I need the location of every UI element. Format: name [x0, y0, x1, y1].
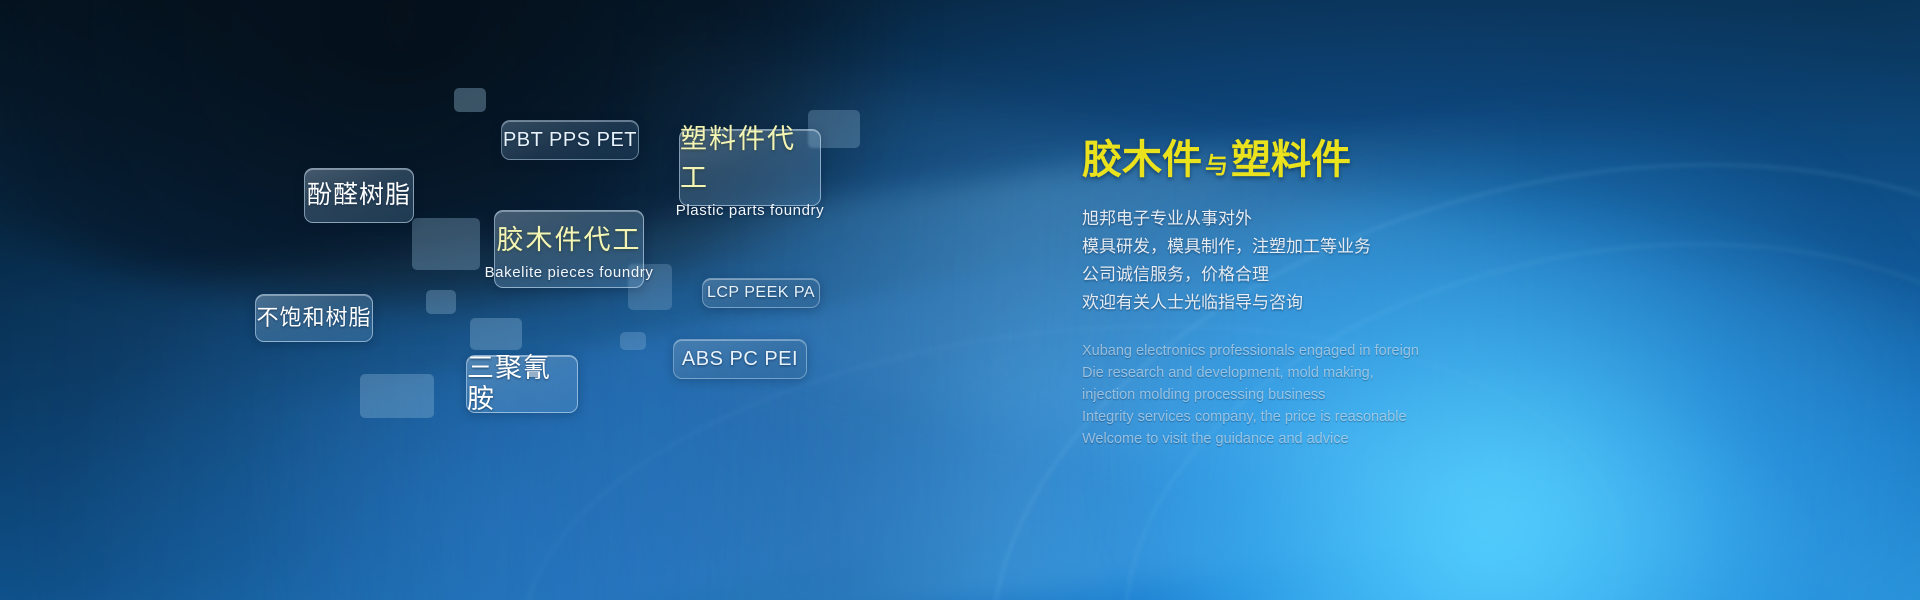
tag-label: 酚醛树脂	[307, 181, 411, 210]
description-en-line: Die research and development, mold makin…	[1082, 362, 1502, 384]
tag-title-en: Bakelite pieces foundry	[485, 264, 654, 281]
tag-resin-unsaturated[interactable]: 不饱和树脂	[255, 294, 373, 342]
description-cn-line: 公司诚信服务，价格合理	[1082, 264, 1502, 286]
tag-label: 不饱和树脂	[256, 305, 371, 330]
description-cn-line: 欢迎有关人士光临指导与咨询	[1082, 292, 1502, 314]
decorative-square	[470, 318, 522, 350]
tag-label: 三聚氰胺	[467, 353, 577, 415]
tag-title-cn: 胶木件代工	[497, 218, 642, 257]
tag-materials-abs[interactable]: ABS PC PEI	[673, 339, 807, 379]
tag-resin-phenolic[interactable]: 酚醛树脂	[304, 168, 414, 223]
tag-resin-melamine[interactable]: 三聚氰胺	[466, 355, 578, 413]
light-sweep-lower	[234, 254, 1165, 600]
tag-materials-pbt[interactable]: PBT PPS PET	[501, 120, 639, 160]
title-conjunction: 与	[1202, 152, 1231, 178]
description-en-line: Welcome to visit the guidance and advice	[1082, 428, 1502, 450]
promo-banner: PBT PPS PET 酚醛树脂 塑料件代工 Plastic parts fou…	[0, 0, 1920, 600]
tag-title-en: Plastic parts foundry	[676, 202, 825, 219]
description-cn-line: 模具研发，模具制作，注塑加工等业务	[1082, 236, 1502, 258]
tag-label: PBT PPS PET	[503, 129, 637, 152]
tag-service-bakelite[interactable]: 胶木件代工 Bakelite pieces foundry	[494, 210, 644, 288]
description-en-line: Xubang electronics professionals engaged…	[1082, 340, 1502, 362]
tag-label: ABS PC PEI	[682, 348, 798, 371]
decorative-square	[454, 88, 486, 112]
tag-materials-lcp[interactable]: LCP PEEK PA	[702, 278, 820, 308]
tag-title-cn: 塑料件代工	[680, 117, 820, 195]
decorative-square	[426, 290, 456, 314]
copy-block: 胶木件与塑料件 旭邦电子专业从事对外 模具研发，模具制作，注塑加工等业务 公司诚…	[1082, 140, 1502, 450]
decorative-square	[412, 218, 480, 270]
title-part-1: 胶木件	[1082, 138, 1202, 182]
description-en-list: Xubang electronics professionals engaged…	[1082, 340, 1502, 450]
tag-label: LCP PEEK PA	[707, 284, 815, 302]
description-en-line: Integrity services company, the price is…	[1082, 406, 1502, 428]
decorative-square	[360, 374, 434, 418]
description-en-line: injection molding processing business	[1082, 384, 1502, 406]
description-cn-line: 旭邦电子专业从事对外	[1082, 208, 1502, 230]
decorative-square	[620, 332, 646, 350]
page-title: 胶木件与塑料件	[1082, 140, 1502, 180]
tag-service-plastic[interactable]: 塑料件代工 Plastic parts foundry	[679, 129, 821, 206]
description-cn-list: 旭邦电子专业从事对外 模具研发，模具制作，注塑加工等业务 公司诚信服务，价格合理…	[1082, 208, 1502, 314]
title-part-2: 塑料件	[1231, 138, 1351, 182]
